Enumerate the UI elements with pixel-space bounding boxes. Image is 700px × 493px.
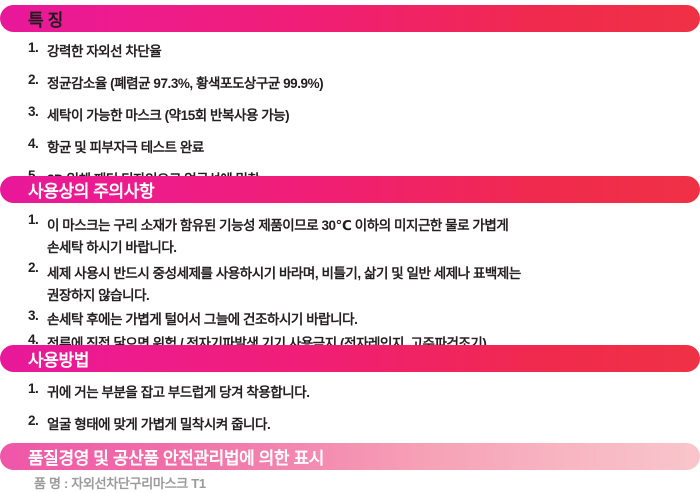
- list-item-number: 2.: [28, 72, 47, 87]
- section-header-features: 특 징: [0, 5, 700, 32]
- section-header-labeling-label: 품질경영 및 공산품 안전관리법에 의한 표시: [28, 444, 324, 469]
- list-item: 3. 손세탁 후에는 가볍게 털어서 그늘에 건조하시기 바랍니다.: [28, 308, 700, 328]
- section-header-labeling: 품질경영 및 공산품 안전관리법에 의한 표시: [0, 443, 700, 470]
- section-header-usage-label: 사용방법: [28, 346, 89, 371]
- list-item: 3. 세탁이 가능한 마스크 (약15회 반복사용 가능): [28, 104, 700, 124]
- list-item: 1. 강력한 자외선 차단율: [28, 40, 700, 60]
- section-header-cautions-label: 사용상의 주의사항: [28, 177, 154, 202]
- list-item-text: 세제 사용시 반드시 중성세제를 사용하시기 바라며, 비틀기, 삶기 및 일반…: [47, 260, 700, 304]
- list-item-number: 3.: [28, 104, 47, 119]
- list-item-number: 3.: [28, 308, 47, 323]
- list-item-text: 세탁이 가능한 마스크 (약15회 반복사용 가능): [47, 104, 700, 124]
- list-item-number: 2.: [28, 413, 47, 428]
- list-item-text: 얼굴 형태에 맞게 가볍게 밀착시켜 줍니다.: [47, 413, 700, 433]
- list-item-text: 귀에 거는 부분을 잡고 부드럽게 당겨 착용합니다.: [47, 381, 700, 401]
- product-name-label: 품 명 : 자외선차단구리마스크 T1: [34, 473, 206, 492]
- list-item-text: 강력한 자외선 차단율: [47, 40, 700, 60]
- list-item-number: 4.: [28, 136, 47, 151]
- list-item: 1. 귀에 거는 부분을 잡고 부드럽게 당겨 착용합니다.: [28, 381, 700, 401]
- list-item-line-2: 권장하지 않습니다.: [47, 284, 700, 304]
- cautions-list: 1. 이 마스크는 구리 소재가 함유된 기능성 제품이므로 30℃ 이하의 미…: [0, 212, 700, 356]
- section-header-cautions: 사용상의 주의사항: [0, 176, 700, 203]
- list-item-line-1: 세제 사용시 반드시 중성세제를 사용하시기 바라며, 비틀기, 삶기 및 일반…: [47, 262, 700, 282]
- list-item-line-1: 이 마스크는 구리 소재가 함유된 기능성 제품이므로 30℃ 이하의 미지근한…: [47, 214, 700, 234]
- product-info-page: 특 징 1. 강력한 자외선 차단율 2. 정균감소율 (폐렴균 97.3%, …: [0, 0, 700, 493]
- list-item-text: 항균 및 피부자극 테스트 완료: [47, 136, 700, 156]
- list-item-number: 1.: [28, 381, 47, 396]
- usage-list: 1. 귀에 거는 부분을 잡고 부드럽게 당겨 착용합니다. 2. 얼굴 형태에…: [0, 381, 700, 445]
- section-header-features-label: 특 징: [28, 6, 63, 31]
- list-item-text: 정균감소율 (폐렴균 97.3%, 황색포도상구균 99.9%): [47, 72, 700, 92]
- section-header-usage: 사용방법: [0, 345, 700, 372]
- list-item: 1. 이 마스크는 구리 소재가 함유된 기능성 제품이므로 30℃ 이하의 미…: [28, 212, 700, 256]
- list-item: 2. 정균감소율 (폐렴균 97.3%, 황색포도상구균 99.9%): [28, 72, 700, 92]
- list-item-text: 이 마스크는 구리 소재가 함유된 기능성 제품이므로 30℃ 이하의 미지근한…: [47, 212, 700, 256]
- list-item: 2. 세제 사용시 반드시 중성세제를 사용하시기 바라며, 비틀기, 삶기 및…: [28, 260, 700, 304]
- list-item-number: 2.: [28, 260, 47, 275]
- list-item-number: 1.: [28, 212, 47, 227]
- list-item-text: 손세탁 후에는 가볍게 털어서 그늘에 건조하시기 바랍니다.: [47, 308, 700, 328]
- list-item: 4. 항균 및 피부자극 테스트 완료: [28, 136, 700, 156]
- list-item-line-2: 손세탁 하시기 바랍니다.: [47, 236, 700, 256]
- list-item-number: 1.: [28, 40, 47, 55]
- list-item: 2. 얼굴 형태에 맞게 가볍게 밀착시켜 줍니다.: [28, 413, 700, 433]
